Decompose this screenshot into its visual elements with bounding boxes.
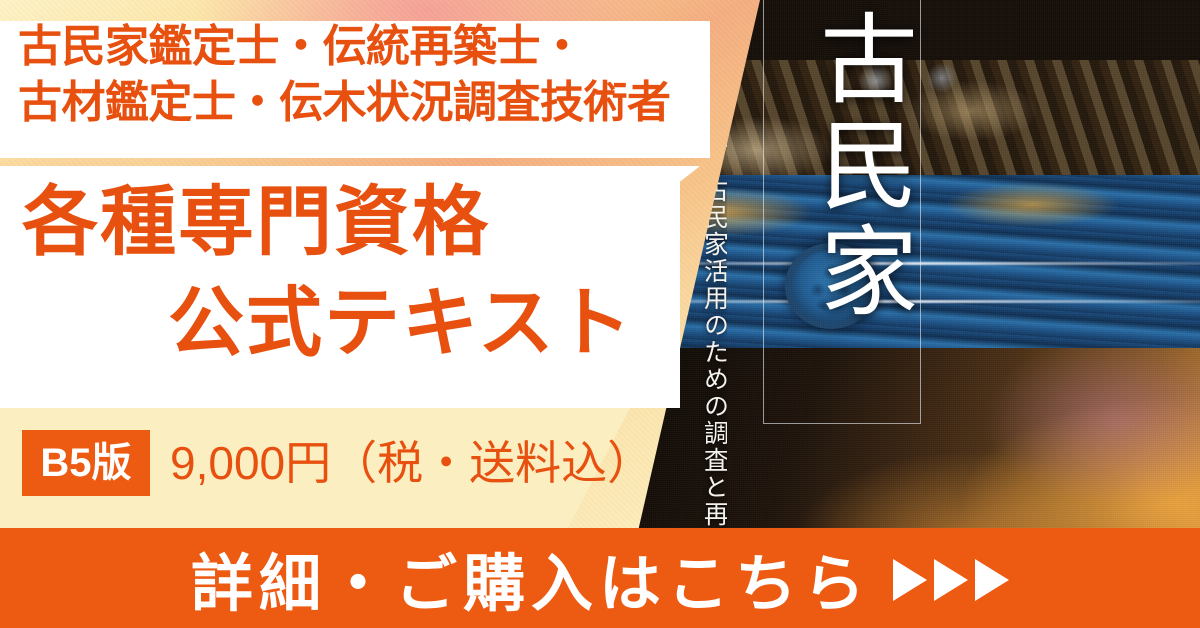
triangle-right-icon xyxy=(934,559,968,601)
headline-text: 各種専門資格 公式テキスト xyxy=(0,172,680,374)
book-cover-title: 古民家 xyxy=(766,8,916,326)
cta-arrows xyxy=(893,559,1009,601)
triangle-right-icon xyxy=(893,559,927,601)
headline-line-2: 公式テキスト xyxy=(0,273,680,374)
cta-label: 詳細・ご購入はこちら xyxy=(191,533,871,623)
format-badge-b5: B5版 xyxy=(22,430,150,496)
price-amount: 9,000円（税・送料込） xyxy=(170,430,653,496)
headline-line-1: 各種専門資格 xyxy=(0,172,680,273)
qualifications-line-2: 古材鑑定士・伝木状況調査技術者 xyxy=(18,78,671,127)
triangle-right-icon xyxy=(975,559,1009,601)
qualifications-line-1: 古民家鑑定士・伝統再築士・ xyxy=(18,22,584,71)
promo-banner: 古民家 伝統構法 古民家活用のための調査と再生の 古民家鑑定士・伝統再築士・ 古… xyxy=(0,0,1200,628)
cta-bar[interactable]: 詳細・ご購入はこちら xyxy=(0,528,1200,628)
qualifications-text: 古民家鑑定士・伝統再築士・ 古材鑑定士・伝木状況調査技術者 xyxy=(18,19,671,132)
